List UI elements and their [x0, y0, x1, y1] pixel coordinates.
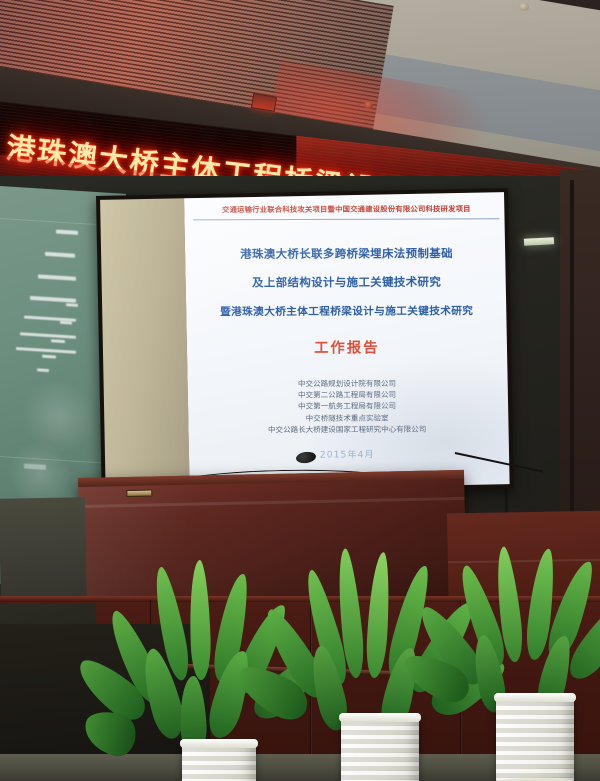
- projection-screen-frame: 交通运输行业联合科技攻关项目暨中国交通建设股份有限公司科技研发项目 港珠澳大桥长…: [96, 188, 514, 496]
- list-item: 中交公路长大桥建设国家工程研究中心有限公司: [188, 423, 506, 436]
- pot-rim: [180, 739, 258, 748]
- slide-divider: [193, 218, 499, 220]
- slide-title-line-3: 暨港珠澳大桥主体工程桥梁设计与施工关键技术研究: [188, 302, 506, 318]
- slide-title-line-1: 港珠澳大桥长联多跨桥梁埋床法预制基础: [187, 245, 505, 262]
- slide-title-line-2: 及上部结构设计与施工关键技术研究: [187, 273, 505, 290]
- plant-pot: [341, 716, 419, 781]
- podium-brand-plate: [126, 489, 152, 497]
- projection-screen: 交通运输行业联合科技攻关项目暨中国交通建设股份有限公司科技研发项目 港珠澳大桥长…: [184, 192, 510, 490]
- pot-rim: [339, 713, 421, 722]
- pot-rim: [494, 693, 576, 702]
- smoke-detector-icon: [519, 3, 529, 11]
- potted-plant: [120, 560, 310, 781]
- plant-pot: [182, 742, 256, 781]
- slide-header-text: 交通运输行业联合科技攻关项目暨中国交通建设股份有限公司科技研发项目: [191, 204, 501, 215]
- potted-plant: [448, 546, 600, 781]
- plant-pot: [496, 696, 574, 781]
- screen-side-shade: [100, 198, 190, 492]
- slide-organization-list: 中交公路规划设计院有限公司 中交第二公路工程局有限公司 中交第一航务工程局有限公…: [188, 377, 506, 435]
- conference-room-photo: 港珠澳大桥主体工程桥梁设计与施工关键技术结题验收会 交通运输行业联合科技攻关项目…: [0, 0, 600, 781]
- presentation-slide: 交通运输行业联合科技攻关项目暨中国交通建设股份有限公司科技研发项目 港珠澳大桥长…: [184, 192, 510, 490]
- slide-report-label: 工作报告: [188, 337, 506, 359]
